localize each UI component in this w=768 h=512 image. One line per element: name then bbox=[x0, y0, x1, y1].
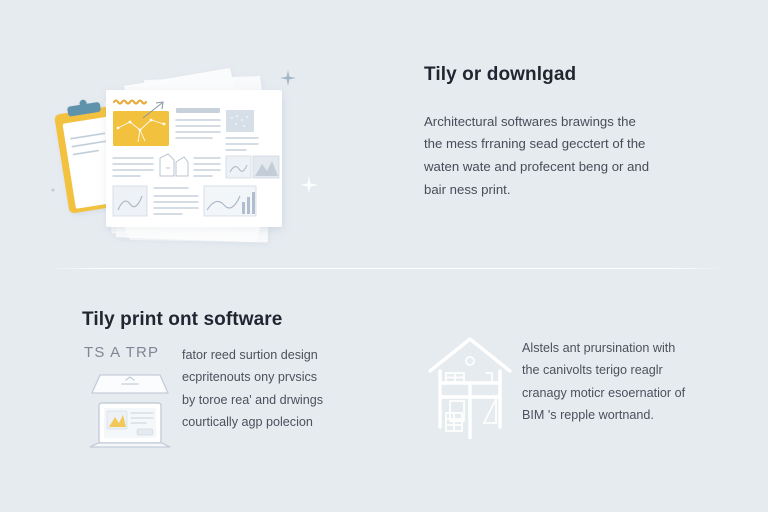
top-body-text: Architectural softwares brawings the the… bbox=[424, 111, 714, 201]
bottom-right-column: Alstels ant prursination with the canivo… bbox=[424, 337, 724, 444]
top-text-block: Tily or downlgad Architectural softwares… bbox=[424, 64, 714, 201]
map-thumbnail bbox=[226, 156, 251, 178]
page-root: Tily or downlgad Architectural softwares… bbox=[0, 0, 768, 512]
bottom-left-column: TS A TRP bbox=[82, 344, 372, 458]
documents-illustration-svg bbox=[48, 58, 338, 248]
region-thumbnail bbox=[113, 186, 147, 216]
printer-laptop-icon-wrap: TS A TRP bbox=[82, 344, 182, 458]
top-body-line-2: the mess frraning sead gecctert of the bbox=[424, 136, 645, 151]
bottom-right-line-4: BIM 's repple wortnand. bbox=[522, 408, 654, 422]
laptop-icon bbox=[90, 403, 170, 447]
top-section: Tily or downlgad Architectural softwares… bbox=[0, 0, 768, 269]
bottom-right-line-1: Alstels ant prursination with bbox=[522, 341, 675, 355]
top-body-line-1: Architectural softwares brawings the bbox=[424, 114, 636, 129]
top-body-line-3: waten wate and profecent beng or and bbox=[424, 159, 649, 174]
house-floorplan-icon bbox=[424, 331, 516, 439]
bottom-right-line-2: the canivolts terigo reaglr bbox=[522, 363, 663, 377]
stacked-architectural-documents-illustration bbox=[48, 58, 338, 248]
printer-icon-label: TS A TRP bbox=[84, 344, 182, 361]
bottom-left-line-3: by toroe rea' and drwings bbox=[182, 393, 323, 407]
bottom-right-line-3: cranagy moticr esoernatior of bbox=[522, 386, 685, 400]
document-thumbnail bbox=[226, 110, 254, 132]
bottom-right-body-text: Alstels ant prursination with the canivo… bbox=[522, 337, 685, 444]
house-floorplan-icon-wrap bbox=[424, 331, 522, 444]
bottom-left-line-2: ecpritenouts ony prvsics bbox=[182, 370, 317, 384]
main-document-page bbox=[106, 90, 282, 227]
bottom-heading: Tily print ont software bbox=[82, 309, 282, 332]
printer-laptop-icon bbox=[82, 367, 178, 453]
bottom-section: Tily print ont software TS A TRP bbox=[0, 269, 768, 512]
bottom-left-body-text: fator reed surtion design ecpritenouts o… bbox=[182, 344, 323, 458]
front-paper-sheet bbox=[120, 218, 262, 242]
top-body-line-4: bair ness print. bbox=[424, 182, 511, 197]
bottom-left-line-1: fator reed surtion design bbox=[182, 348, 318, 362]
bottom-left-line-4: courtically agp polecion bbox=[182, 415, 313, 429]
top-heading: Tily or downlgad bbox=[424, 64, 714, 87]
